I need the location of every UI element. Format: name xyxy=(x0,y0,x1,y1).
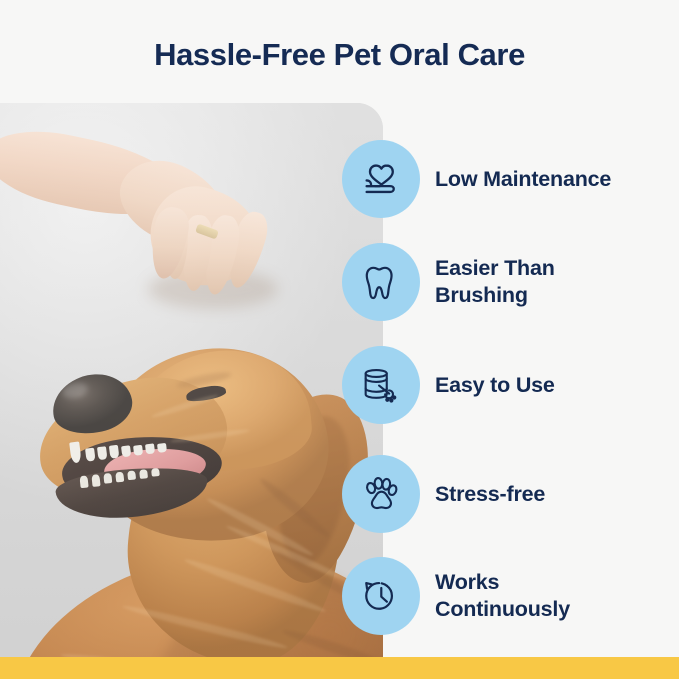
feature-item-works-continuously[interactable]: Works Continuously xyxy=(342,557,672,635)
paw-print-icon xyxy=(342,455,420,533)
jar-with-scoop-icon xyxy=(342,346,420,424)
page-title: Hassle-Free Pet Oral Care xyxy=(0,36,679,73)
feature-label: Works Continuously xyxy=(435,569,635,623)
feature-item-low-maintenance[interactable]: Low Maintenance xyxy=(342,140,672,218)
heart-in-hand-icon xyxy=(342,140,420,218)
feature-item-stress-free[interactable]: Stress-free xyxy=(342,455,672,533)
photo-vignette xyxy=(0,103,383,657)
feature-label: Easier Than Brushing xyxy=(435,255,635,309)
feature-item-easy-to-use[interactable]: Easy to Use xyxy=(342,346,672,424)
infographic-card: Hassle-Free Pet Oral Care xyxy=(0,0,679,679)
feature-label: Low Maintenance xyxy=(435,166,611,193)
bottom-accent-bar xyxy=(0,657,679,679)
feature-label: Easy to Use xyxy=(435,372,555,399)
tooth-icon xyxy=(342,243,420,321)
clock-rotate-icon xyxy=(342,557,420,635)
feature-item-easier-than-brushing[interactable]: Easier Than Brushing xyxy=(342,243,672,321)
feature-label: Stress-free xyxy=(435,481,545,508)
hero-photo xyxy=(0,103,383,657)
